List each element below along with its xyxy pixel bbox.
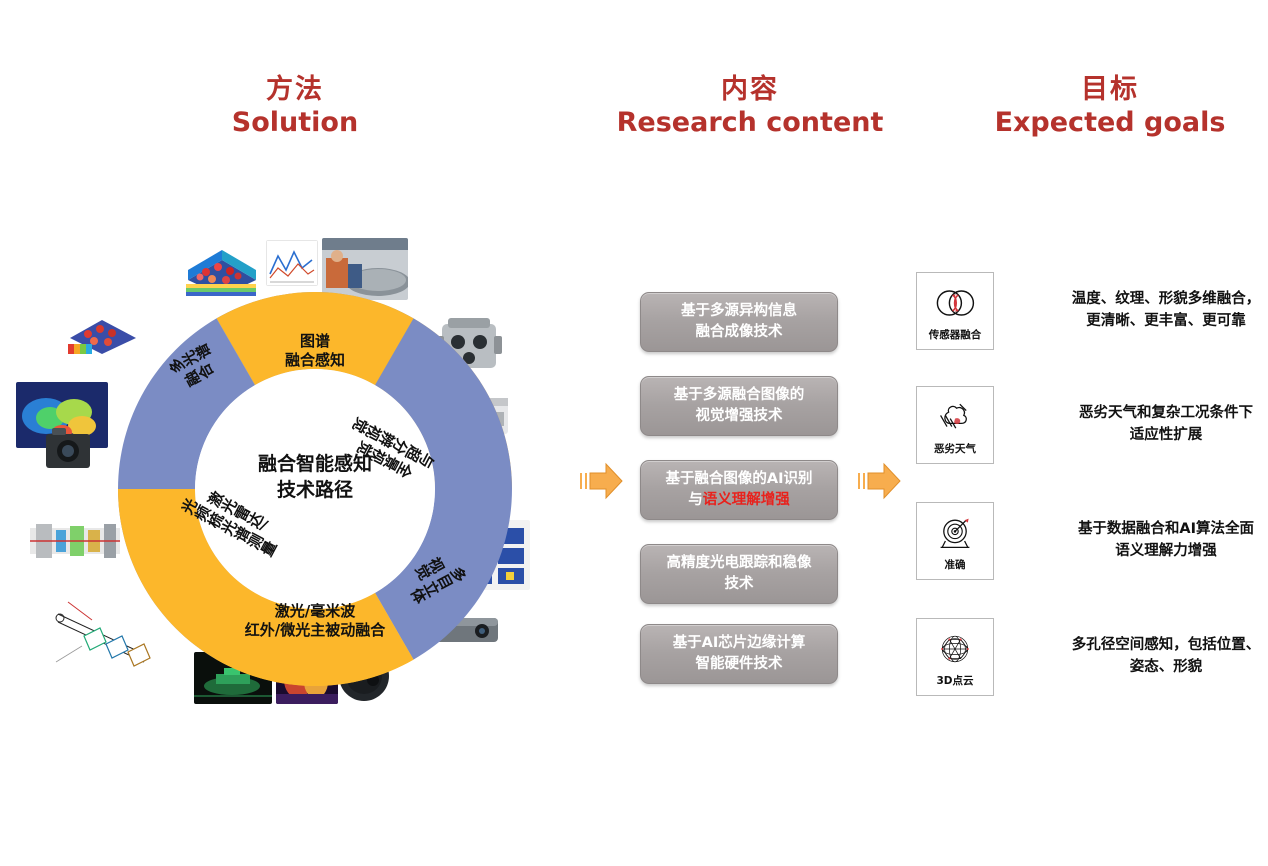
arrow-solution-to-content <box>578 458 624 504</box>
bad-weather-icon <box>931 395 979 439</box>
header-content-en: Research content <box>570 107 930 138</box>
goal-row-2: 恶劣天气 恶劣天气和复杂工况条件下 适应性扩展 <box>916 386 1268 464</box>
deco-optical-bench <box>30 510 120 572</box>
goal-icon-caption-1: 传感器融合 <box>929 327 982 342</box>
header-goals-en: Expected goals <box>960 107 1260 138</box>
goal-text-3: 基于数据融合和AI算法全面 语义理解力增强 <box>1032 519 1268 563</box>
goal-text-2: 恶劣天气和复杂工况条件下 适应性扩展 <box>1032 403 1268 447</box>
content-box-4-line1: 高精度光电跟踪和稳像 <box>667 553 812 574</box>
goal-text-4: 多孔径空间感知，包括位置、 姿态、形貌 <box>1032 635 1268 679</box>
header-solution-en: Solution <box>170 107 420 138</box>
goal-row-4: 3D点云 多孔径空间感知，包括位置、 姿态、形貌 <box>916 618 1268 696</box>
goal-text-3-line2: 语义理解力增强 <box>1032 541 1268 563</box>
goal-icon-caption-2: 恶劣天气 <box>934 441 976 456</box>
page-title-research-content: 内容 Research content <box>570 74 930 139</box>
content-box-5[interactable]: 基于AI芯片边缘计算 智能硬件技术 <box>640 624 838 684</box>
arrow-content-to-goals <box>856 458 902 504</box>
goal-row-1: 传感器融合 温度、纹理、形貌多维融合， 更清晰、更丰富、更可靠 <box>916 272 1268 350</box>
page-title-solution: 方法 Solution <box>170 74 420 139</box>
content-box-4[interactable]: 高精度光电跟踪和稳像 技术 <box>640 544 838 604</box>
donut-label-1: 图谱 融合感知 <box>245 332 385 370</box>
goal-icon-box-4: 3D点云 <box>916 618 994 696</box>
page-title-expected-goals: 目标 Expected goals <box>960 74 1260 139</box>
goal-text-3-line1: 基于数据融合和AI算法全面 <box>1032 519 1268 541</box>
diagram-canvas: 方法 Solution 内容 Research content 目标 Expec… <box>0 0 1268 866</box>
goal-text-2-line2: 适应性扩展 <box>1032 425 1268 447</box>
content-box-5-line2: 智能硬件技术 <box>673 654 806 675</box>
deco-waveform-chart <box>266 240 318 286</box>
content-box-3-line1: 基于融合图像的AI识别 <box>665 469 812 490</box>
goal-row-3: 准确 基于数据融合和AI算法全面 语义理解力增强 <box>916 502 1268 580</box>
target-accuracy-icon <box>931 511 979 555</box>
point-cloud-icon <box>931 627 979 671</box>
header-solution-cn: 方法 <box>170 74 420 105</box>
goal-icon-box-2: 恶劣天气 <box>916 386 994 464</box>
content-box-4-line2: 技术 <box>667 574 812 595</box>
content-box-1-line2: 融合成像技术 <box>681 322 797 343</box>
content-box-2-line1: 基于多源融合图像的 <box>674 385 805 406</box>
sensor-fusion-icon <box>931 281 979 325</box>
deco-thermal-surface-plot <box>182 236 260 298</box>
goal-text-2-line1: 恶劣天气和复杂工况条件下 <box>1032 403 1268 425</box>
header-content-cn: 内容 <box>570 74 930 105</box>
goal-text-4-line1: 多孔径空间感知，包括位置、 <box>1032 635 1268 657</box>
goal-text-1: 温度、纹理、形貌多维融合， 更清晰、更丰富、更可靠 <box>1032 289 1268 333</box>
content-box-1[interactable]: 基于多源异构信息 融合成像技术 <box>640 292 838 352</box>
goal-icon-box-3: 准确 <box>916 502 994 580</box>
content-box-2-line2: 视觉增强技术 <box>674 406 805 427</box>
goal-text-1-line1: 温度、纹理、形貌多维融合， <box>1032 289 1268 311</box>
goal-text-1-line2: 更清晰、更丰富、更可靠 <box>1032 311 1268 333</box>
goal-icon-box-1: 传感器融合 <box>916 272 994 350</box>
content-box-2[interactable]: 基于多源融合图像的 视觉增强技术 <box>640 376 838 436</box>
content-box-5-line1: 基于AI芯片边缘计算 <box>673 633 806 654</box>
deco-camera-module <box>42 426 98 474</box>
goal-icon-caption-3: 准确 <box>945 557 966 572</box>
header-goals-cn: 目标 <box>960 74 1260 105</box>
donut-center-title: 融合智能感知 技术路径 <box>215 452 415 503</box>
content-box-3-line2-prefix: 与 <box>688 492 703 508</box>
deco-pipeline-inspection-photo <box>322 238 408 300</box>
goal-icon-caption-4: 3D点云 <box>936 673 973 688</box>
content-box-3-line2: 与语义理解增强 <box>665 490 812 511</box>
content-box-3[interactable]: 基于融合图像的AI识别 与语义理解增强 <box>640 460 838 520</box>
goal-text-4-line2: 姿态、形貌 <box>1032 657 1268 679</box>
content-box-3-line2-highlight: 语义理解增强 <box>703 492 790 508</box>
technology-roadmap-donut: 图谱 融合感知 全景视觉 与超分辨视觉 多目立体 视觉 激光/毫米波 红外/微光… <box>118 292 512 686</box>
content-box-1-line1: 基于多源异构信息 <box>681 301 797 322</box>
